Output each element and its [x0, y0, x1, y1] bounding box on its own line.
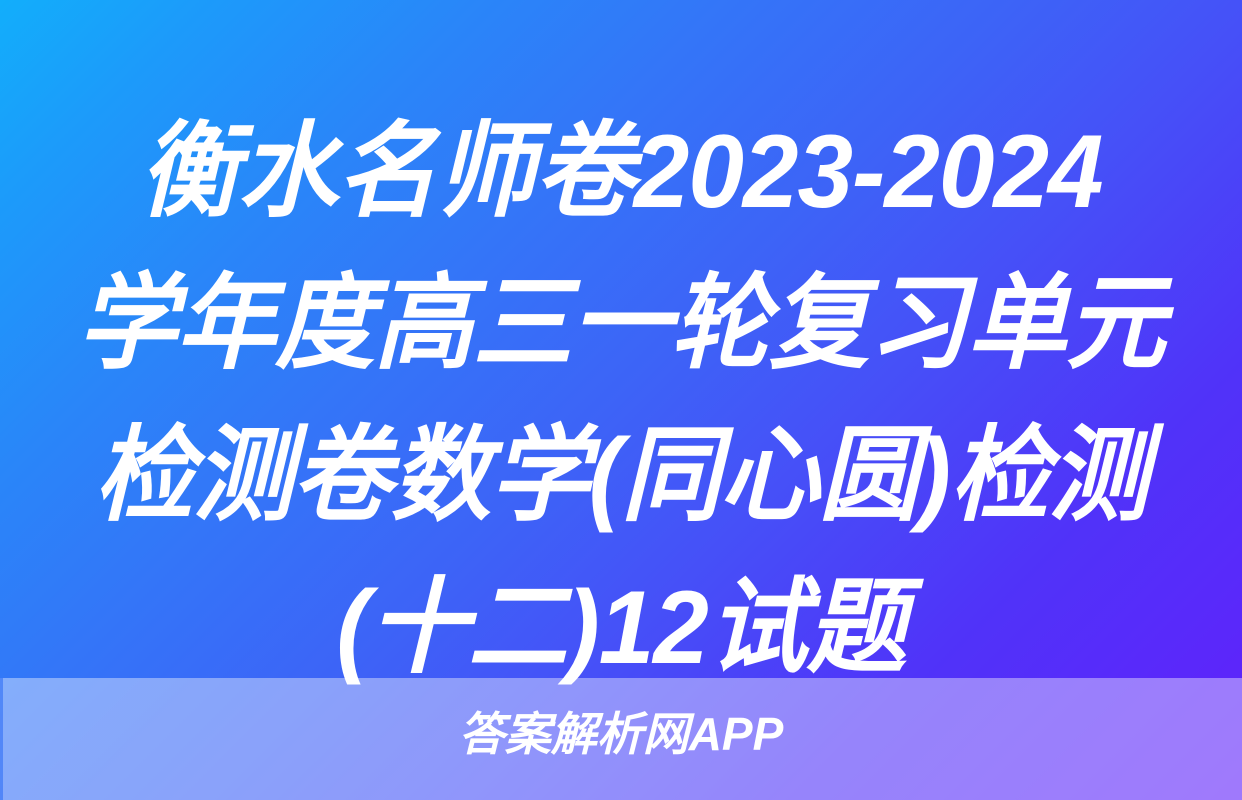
- title-line-3: 检测卷数学(同心圆)检测: [52, 400, 1191, 552]
- title-card: 衡水名师卷2023-2024 学年度高三一轮复习单元 检测卷数学(同心圆)检测 …: [0, 0, 1242, 800]
- footer-band: 答案解析网APP: [0, 678, 1242, 800]
- page-title: 衡水名师卷2023-2024 学年度高三一轮复习单元 检测卷数学(同心圆)检测 …: [0, 96, 1242, 704]
- title-line-1: 衡水名师卷2023-2024: [52, 96, 1191, 248]
- title-line-2: 学年度高三一轮复习单元: [52, 248, 1191, 400]
- brand-watermark: 答案解析网APP: [0, 704, 1242, 764]
